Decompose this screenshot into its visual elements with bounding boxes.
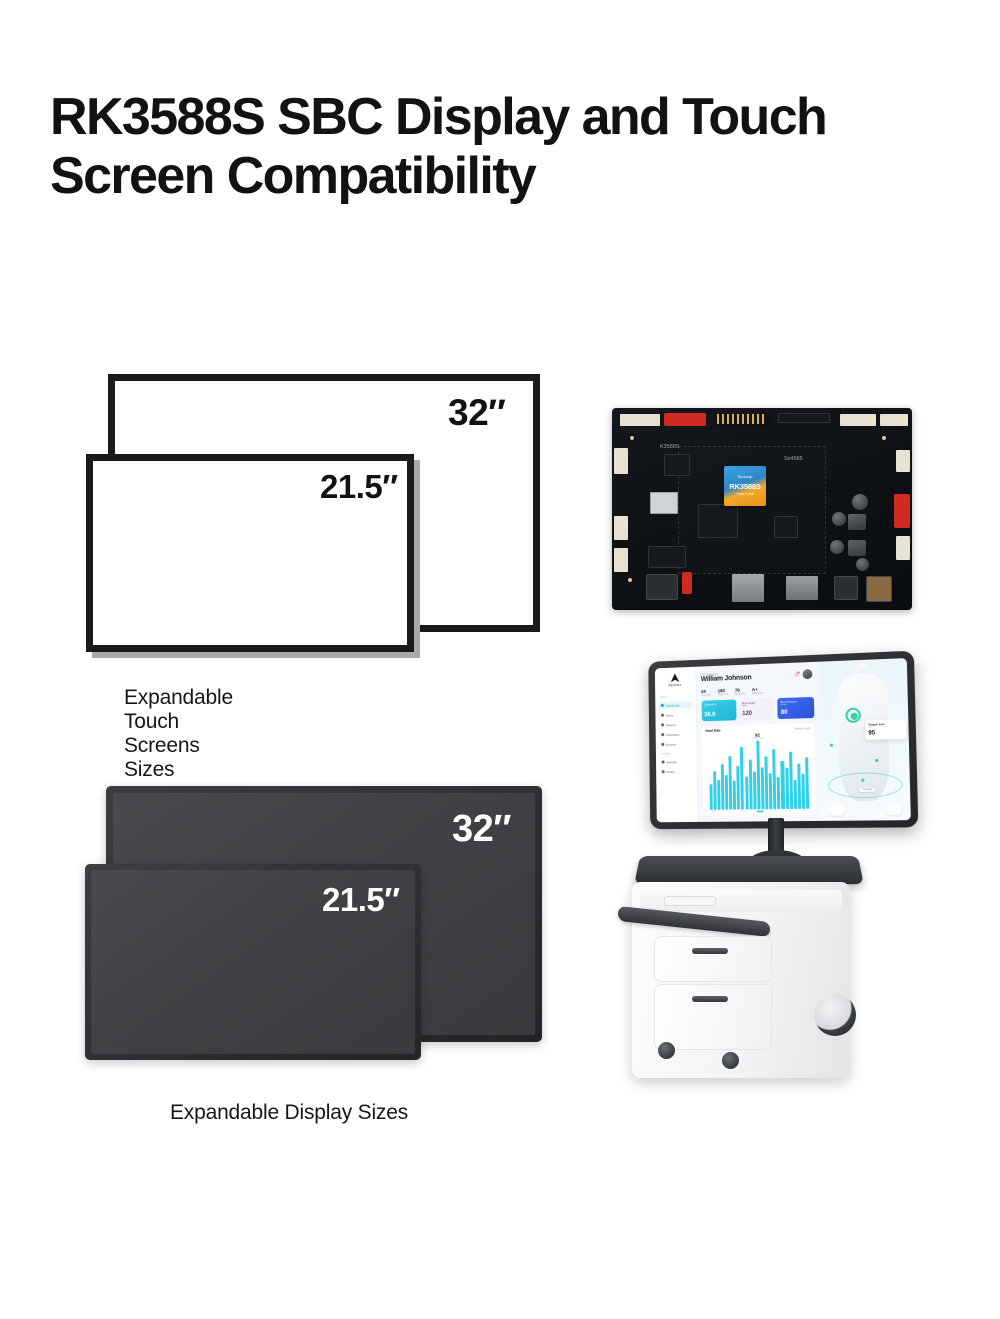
cart-wheel-large (814, 994, 856, 1036)
heart-rate-bar (737, 766, 741, 809)
board-wifi-module (650, 492, 678, 514)
cart-drawer-top-handle[interactable] (692, 948, 728, 954)
sidebar-item-home[interactable]: Home (659, 711, 692, 719)
sbc-board-image: Rockchip RK3588S Octa Core K3588S Sx4585 (612, 408, 912, 610)
board-inductor (848, 514, 866, 530)
logo-text: Medcare (669, 683, 682, 687)
heart-rate-axis-label[interactable]: Fri (775, 810, 777, 812)
cart-drawer-bottom[interactable] (654, 984, 772, 1050)
vital-card-blood-sugar[interactable]: Blood Sugar mg/dL 120 (739, 698, 775, 720)
stat-label: Years Old (701, 694, 711, 697)
dashboard-logo: Medcare (659, 673, 692, 688)
home-icon (661, 714, 664, 717)
dashboard-sidebar: Medcare Menu Dashboard Home Patients (655, 667, 698, 823)
cart-drawer-bottom-handle[interactable] (692, 996, 728, 1002)
calendar-icon (661, 733, 664, 736)
chip-brand: Rockchip (738, 476, 753, 480)
heart-rate-bar (789, 752, 793, 809)
sidebar-item-dashboard[interactable]: Dashboard (659, 701, 692, 709)
vital-cards-row: Temperature °C 36.6 Blood Sugar mg/dL 12… (701, 697, 814, 721)
touch-section-caption: Expandable Touch Screens Sizes (124, 686, 233, 782)
heart-rate-bar (717, 780, 720, 810)
vital-card-blood-pressure[interactable]: Blood Pressure mmHg 80 (778, 697, 815, 719)
board-mounting-hole (626, 576, 634, 584)
board-pin-header (714, 413, 770, 426)
infographic-page: RK3588S SBC Display and Touch Screen Com… (0, 0, 1000, 1319)
display-size-label-32: 32″ (452, 808, 511, 851)
heart-rate-bar (728, 756, 732, 809)
board-connector-red (664, 413, 706, 426)
heart-rate-bar (777, 777, 781, 808)
dashboard-header: Good Morning, William Johnson (701, 668, 814, 684)
board-connector (896, 450, 910, 472)
gear-icon (662, 760, 665, 763)
board-connector (614, 448, 628, 474)
board-memory-chip (698, 504, 738, 538)
board-capacitor (852, 494, 868, 510)
board-mounting-hole (880, 434, 888, 442)
heart-rate-bar (797, 763, 801, 808)
board-usb-port (786, 576, 818, 600)
board-capacitor (832, 512, 846, 526)
sidebar-item-schedules[interactable]: Schedules (659, 730, 692, 738)
vital-card-value: 80 (781, 709, 811, 716)
patient-stat-weight: 78 Weight kg (735, 687, 745, 695)
body-action-button-right[interactable] (887, 804, 902, 816)
page-title: RK3588S SBC Display and Touch Screen Com… (50, 88, 950, 207)
stat-label: Blood Type (752, 692, 764, 695)
sidebar-item-settings[interactable]: Settings (660, 758, 693, 766)
body-scan-ring (827, 771, 903, 798)
display-size-label-21-5: 21.5″ (322, 881, 400, 919)
board-audio-jack (646, 574, 678, 600)
touch-size-label-21-5: 21.5″ (320, 468, 398, 506)
patient-stat-blood-type: A+ Blood Type (752, 687, 764, 695)
display-section-caption: Expandable Display Sizes (170, 1101, 408, 1125)
board-fpc-connector (778, 413, 830, 423)
body-action-button-left[interactable] (830, 805, 844, 816)
board-silkscreen-1: K3588S (660, 444, 680, 450)
body-marker-dot[interactable] (830, 744, 833, 747)
sidebar-item-patients[interactable]: Patients (659, 721, 692, 729)
board-flash-chip (648, 546, 686, 568)
heart-rate-axis-label[interactable]: Thu (756, 810, 763, 812)
stat-label: Height cm (718, 693, 728, 696)
board-power-jack (866, 576, 892, 602)
vital-card-temperature[interactable]: Temperature °C 36.6 (701, 700, 736, 722)
dashboard-main: Good Morning, William Johnson 44 Years O… (696, 662, 822, 822)
vital-card-unit: °C (704, 706, 733, 709)
patient-name: William Johnson (701, 674, 752, 683)
board-connector (614, 516, 628, 540)
heart-rate-bars (706, 739, 813, 809)
body-visualization-panel: Oxygen level Live 95 Full Body (818, 658, 911, 821)
sidebar-item-label: Dashboard (666, 703, 680, 707)
heart-rate-bar (801, 774, 805, 809)
board-connector (614, 548, 628, 572)
sidebar-item-label: Home (666, 713, 674, 717)
monitor-screen: Medcare Menu Dashboard Home Patients (655, 658, 911, 822)
patient-stats-row: 44 Years Old 180 Height cm 78 Weight kg (701, 685, 814, 697)
heart-rate-axis-label[interactable]: Sat (789, 810, 792, 812)
cart-top-surface (634, 856, 863, 884)
heart-rate-bar (793, 780, 797, 809)
body-marker-dot[interactable] (875, 759, 878, 762)
notification-bell-icon[interactable] (794, 672, 798, 676)
heart-rate-bar (733, 781, 736, 809)
touch-size-label-32: 32″ (448, 392, 505, 434)
avatar[interactable] (801, 668, 813, 680)
chip-part-number: RK3588S (729, 483, 761, 491)
heart-rate-bar (785, 768, 789, 808)
cart-caster-wheel (722, 1052, 739, 1069)
board-ethernet-port (732, 574, 764, 602)
heart-rate-bar (772, 749, 776, 809)
heart-rate-bar (769, 773, 773, 809)
stat-label: Weight kg (735, 692, 745, 695)
vital-card-unit: mmHg (781, 703, 811, 706)
board-connector (620, 414, 660, 426)
cart-body (618, 856, 880, 1086)
board-silkscreen-2: Sx4585 (784, 456, 803, 462)
page-title-line-2: Screen Compatibility (50, 147, 950, 206)
grid-icon (661, 704, 664, 707)
board-mounting-hole (628, 434, 636, 442)
heart-rate-trend-link[interactable]: Weekly Trends (795, 727, 811, 730)
sidebar-item-reports[interactable]: Reports (660, 740, 693, 748)
sidebar-item-profile[interactable]: Profile (660, 768, 693, 775)
patient-stat-age: 44 Years Old (701, 689, 711, 697)
sidebar-item-label: Profile (666, 770, 674, 774)
heart-rate-bar (745, 776, 749, 809)
logo-mark-icon (671, 673, 680, 682)
heart-rate-bar (756, 741, 760, 809)
heart-rate-bar (761, 767, 765, 809)
header-actions (794, 668, 813, 681)
vital-card-value: 120 (742, 710, 772, 717)
board-connector (896, 536, 910, 560)
sidebar-item-label: Schedules (666, 732, 679, 736)
rk3588s-chip-label: Rockchip RK3588S Octa Core (724, 466, 766, 506)
body-scan-label: Full Body (860, 787, 876, 791)
heart-rate-bar (713, 771, 716, 809)
heart-rate-bar (805, 757, 809, 808)
heart-rate-title: Heart Rate (705, 729, 720, 733)
sidebar-item-label: Patients (666, 723, 676, 727)
heart-rate-axis-label[interactable]: Mon (712, 811, 716, 813)
heart-rate-bar (709, 784, 712, 809)
board-capacitor (856, 558, 869, 571)
heart-rate-axis-label[interactable]: Sun (803, 810, 806, 812)
sidebar-section-label-menu: Menu (659, 695, 692, 699)
user-icon (662, 770, 665, 773)
cart-lip-slot (664, 896, 716, 906)
heart-rate-bar (725, 775, 728, 809)
oxygen-level-popup: Oxygen level Live 95 (865, 719, 907, 739)
oxygen-popup-value: 95 (868, 730, 903, 737)
heart-rate-axis-label[interactable]: Wed (741, 811, 745, 813)
vital-card-unit: mg/dL (742, 704, 772, 707)
board-connector (880, 414, 908, 426)
heart-rate-axis-label[interactable]: Tue (727, 811, 730, 813)
board-connector (840, 414, 876, 426)
users-icon (661, 723, 664, 726)
board-capacitor (830, 540, 844, 554)
chip-tagline: Octa Core (736, 492, 754, 496)
heart-rate-bar (753, 772, 757, 809)
chart-icon (661, 743, 664, 746)
heart-rate-bar (781, 761, 785, 809)
heart-rate-bar (765, 757, 769, 809)
board-ic (664, 454, 690, 476)
heart-rate-axis: MonTueWedThuFriSatSun (707, 810, 813, 813)
patient-stat-height: 180 Height cm (718, 688, 728, 696)
heart-rate-bar (721, 764, 725, 809)
sidebar-section-label-general: General (660, 752, 693, 756)
heart-rate-bar (748, 760, 752, 809)
cart-caster-wheel (658, 1042, 675, 1059)
touch-monitor: Medcare Menu Dashboard Home Patients (648, 651, 918, 830)
sidebar-item-label: Settings (666, 760, 676, 764)
heart-rate-chart-card: Heart Rate Weekly Trends 92 BPM Average … (702, 723, 817, 816)
board-ic (774, 516, 798, 538)
vital-card-value: 36.6 (704, 711, 733, 718)
medical-cart-image: Medcare Menu Dashboard Home Patients (600, 650, 930, 1090)
heart-rate-bar (740, 747, 744, 809)
cart-drawer-top[interactable] (654, 936, 772, 982)
board-connector-red (682, 572, 692, 594)
board-inductor (848, 540, 866, 556)
page-title-line-1: RK3588S SBC Display and Touch (50, 88, 950, 147)
board-usb-port (834, 576, 858, 600)
sidebar-item-label: Reports (666, 742, 676, 746)
board-connector-red (894, 494, 910, 528)
